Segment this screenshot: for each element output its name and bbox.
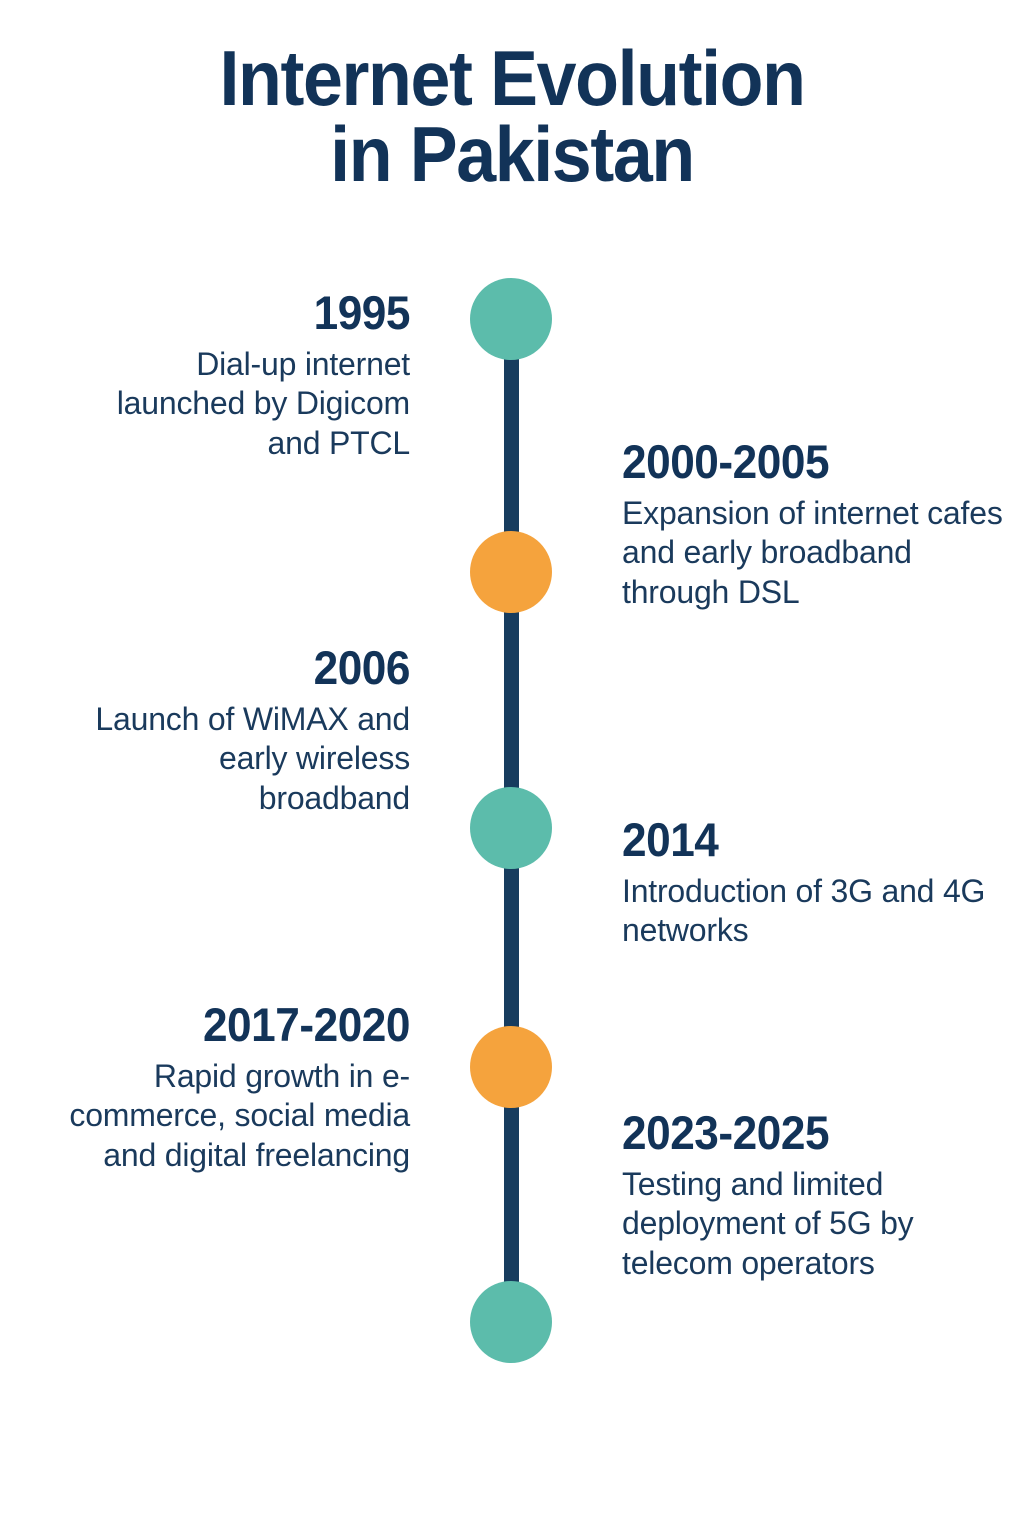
entry-description: Rapid growth in e-commerce, social media… xyxy=(60,1057,410,1176)
timeline-node-3 xyxy=(470,787,552,869)
timeline-node-1 xyxy=(470,278,552,360)
page-title: Internet Evolution in Pakistan xyxy=(0,40,1024,193)
entry-description: Testing and limited deployment of 5G by … xyxy=(622,1165,1004,1284)
timeline-entry-1995: 1995 Dial-up internet launched by Digico… xyxy=(60,288,410,464)
timeline-node-4 xyxy=(470,1026,552,1108)
entry-year: 2000-2005 xyxy=(622,437,981,488)
timeline-entry-2000-2005: 2000-2005 Expansion of internet cafes an… xyxy=(622,437,1004,613)
entry-year: 2006 xyxy=(81,643,410,694)
entry-year: 1995 xyxy=(81,288,410,339)
timeline-node-2 xyxy=(470,531,552,613)
entry-year: 2023-2025 xyxy=(622,1108,981,1159)
timeline-entry-2017-2020: 2017-2020 Rapid growth in e-commerce, so… xyxy=(60,1000,410,1176)
entry-year: 2014 xyxy=(622,815,981,866)
title-line-1: Internet Evolution xyxy=(41,40,983,116)
entry-description: Introduction of 3G and 4G networks xyxy=(622,872,1004,951)
timeline-node-5 xyxy=(470,1281,552,1363)
entry-description: Launch of WiMAX and early wireless broad… xyxy=(60,700,410,819)
timeline-entry-2014: 2014 Introduction of 3G and 4G networks xyxy=(622,815,1004,951)
entry-description: Dial-up internet launched by Digicom and… xyxy=(60,345,410,464)
entry-description: Expansion of internet cafes and early br… xyxy=(622,494,1004,613)
timeline-entry-2006: 2006 Launch of WiMAX and early wireless … xyxy=(60,643,410,819)
infographic-canvas: Internet Evolution in Pakistan 1995 Dial… xyxy=(0,0,1024,1536)
entry-year: 2017-2020 xyxy=(81,1000,410,1051)
timeline-entry-2023-2025: 2023-2025 Testing and limited deployment… xyxy=(622,1108,1004,1284)
title-line-2: in Pakistan xyxy=(41,116,983,192)
